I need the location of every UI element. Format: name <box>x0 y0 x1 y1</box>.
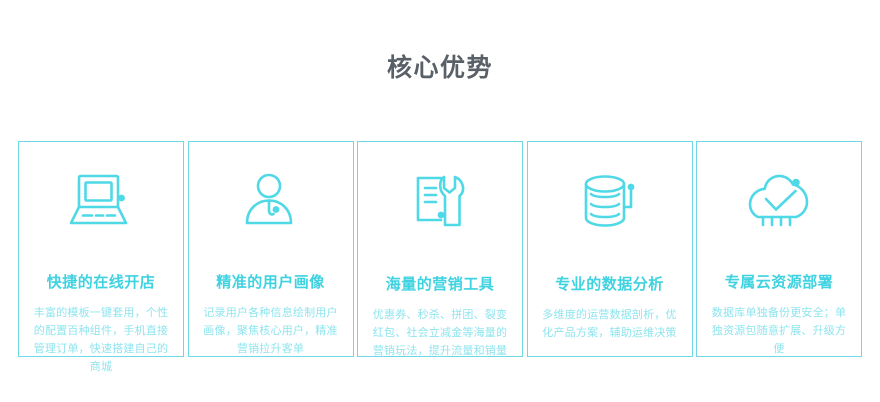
document-wrench-icon <box>404 173 476 231</box>
advantage-card-description: 优惠券、秒杀、拼团、裂变红包、社会立减金等海量的营销玩法，提升流量和销量 <box>372 306 508 360</box>
advantage-card-title: 专业的数据分析 <box>555 275 664 293</box>
advantage-card-marketing-tools[interactable]: 海量的营销工具 优惠券、秒杀、拼团、裂变红包、社会立减金等海量的营销玩法，提升流… <box>357 141 523 357</box>
cloud-check-icon <box>743 173 815 229</box>
advantage-card-title: 专属云资源部署 <box>725 273 834 291</box>
advantage-card-list: 快捷的在线开店 丰富的模板一键套用，个性的配置百种组件，手机直接管理订单，快速搭… <box>18 141 862 357</box>
advantage-card-title: 快捷的在线开店 <box>47 273 156 291</box>
laptop-icon <box>65 173 137 229</box>
advantage-card-online-store[interactable]: 快捷的在线开店 丰富的模板一键套用，个性的配置百种组件，手机直接管理订单，快速搭… <box>18 141 184 357</box>
advantage-card-cloud-deployment[interactable]: 专属云资源部署 数据库单独备份更安全；单独资源包随意扩展、升级方便 <box>696 141 862 357</box>
advantage-card-user-profile[interactable]: 精准的用户画像 记录用户各种信息绘制用户画像，聚焦核心用户，精准营销拉升客单 <box>188 141 354 357</box>
page-title: 核心优势 <box>0 52 880 84</box>
advantage-card-description: 数据库单独备份更安全；单独资源包随意扩展、升级方便 <box>711 304 847 358</box>
advantage-card-description: 丰富的模板一键套用，个性的配置百种组件，手机直接管理订单，快速搭建自己的商城 <box>33 304 169 376</box>
advantage-card-description: 多维度的运营数据剖析，优化产品方案，辅助运维决策 <box>542 306 678 342</box>
advantage-card-title: 海量的营销工具 <box>386 275 495 293</box>
advantage-card-description: 记录用户各种信息绘制用户画像，聚焦核心用户，精准营销拉升客单 <box>203 304 339 358</box>
core-advantages-section: 核心优势 快捷的在线开店 丰富的模板一键套用，个性的配置百种组件，手机直接管理订… <box>0 0 880 402</box>
advantage-card-data-analysis[interactable]: 专业的数据分析 多维度的运营数据剖析，优化产品方案，辅助运维决策 <box>527 141 693 357</box>
user-profile-icon <box>235 173 307 229</box>
database-icon <box>574 173 646 231</box>
advantage-card-title: 精准的用户画像 <box>216 273 325 291</box>
